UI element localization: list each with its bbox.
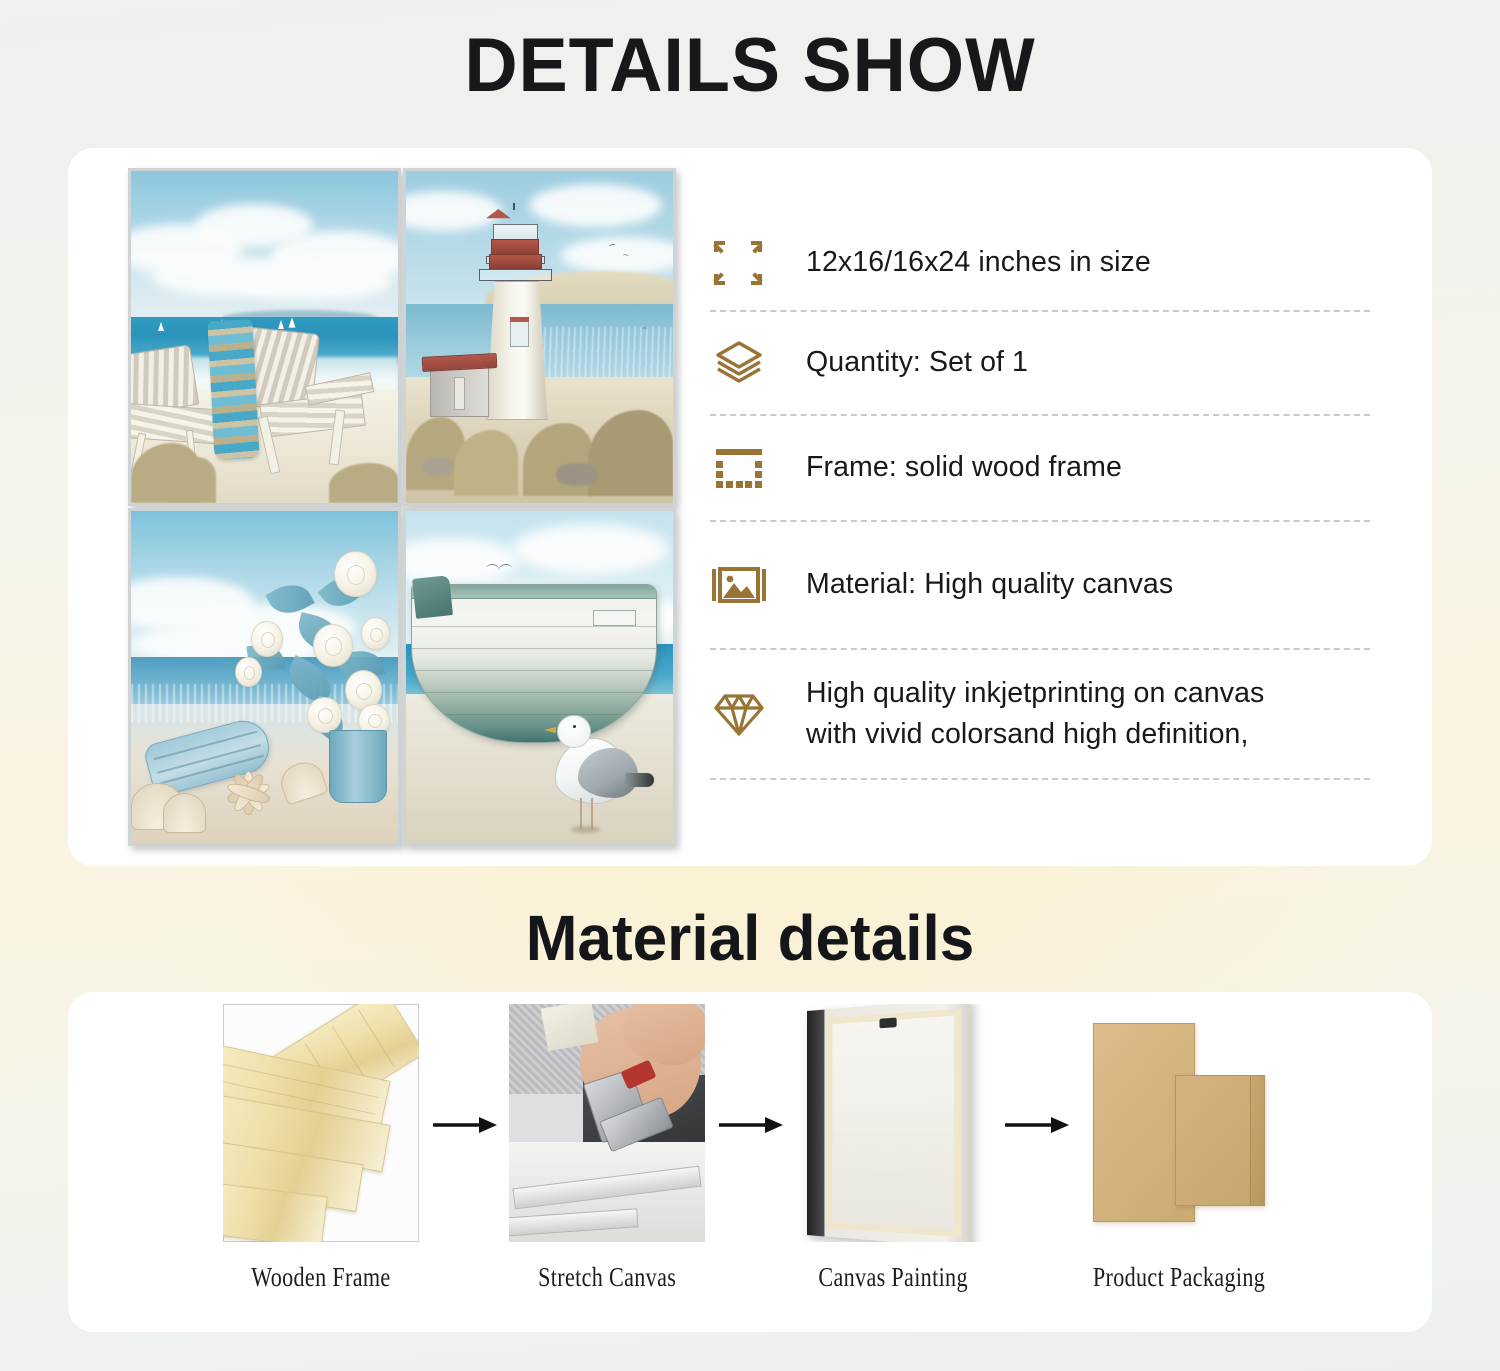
spec-row-printing: High quality inkjetprinting on canvas wi…: [710, 650, 1370, 778]
arrow-icon-1: [421, 1114, 507, 1136]
process-step-canvas-painting[interactable]: Canvas Painting: [793, 1004, 993, 1293]
spec-row-size: 12x16/16x24 inches in size: [710, 216, 1370, 310]
spec-row-frame: Frame: solid wood frame: [710, 416, 1370, 520]
spec-row-material: Material: High quality canvas: [710, 522, 1370, 648]
material-details-header: Material details: [0, 890, 1500, 970]
process-steps: Wooden Frame: [68, 1022, 1432, 1274]
wooden-frame-photo: [223, 1004, 419, 1242]
details-show-header: DETAILS SHOW: [0, 0, 1500, 104]
picture-icon-svg: [710, 557, 768, 613]
arrow-icon-3: [993, 1114, 1079, 1136]
material-details-card: Wooden Frame: [68, 992, 1432, 1332]
material-details-title: Material details: [23, 890, 1478, 970]
page-title: DETAILS SHOW: [23, 0, 1478, 104]
artwork-panel-boat-seagull[interactable]: [403, 508, 676, 846]
stretch-canvas-photo: [509, 1004, 705, 1242]
resize-icon: [710, 235, 768, 291]
step-label-wooden-frame: Wooden Frame: [251, 1262, 390, 1293]
specs-list: 12x16/16x24 inches in size Quantity: Set…: [710, 216, 1370, 780]
layers-icon-svg: [710, 335, 768, 391]
spec-text-size: 12x16/16x24 inches in size: [806, 242, 1151, 283]
spec-text-material: Material: High quality canvas: [806, 564, 1173, 605]
spec-separator: [710, 778, 1370, 780]
spec-text-printing-line2: with vivid colorsand high definition,: [806, 714, 1264, 755]
artwork-panel-beach-chairs[interactable]: [128, 168, 401, 506]
process-step-wooden-frame[interactable]: Wooden Frame: [221, 1004, 421, 1293]
process-step-product-packaging[interactable]: Product Packaging: [1079, 1004, 1279, 1293]
frame-icon: [710, 440, 768, 496]
details-card: 12x16/16x24 inches in size Quantity: Set…: [68, 148, 1432, 866]
artwork-panel-lighthouse[interactable]: [403, 168, 676, 506]
spec-text-printing: High quality inkjetprinting on canvas wi…: [806, 673, 1264, 756]
step-label-product-packaging: Product Packaging: [1093, 1262, 1265, 1293]
arrow-icon-2: [707, 1114, 793, 1136]
canvas-painting-photo: [795, 1004, 991, 1242]
product-packaging-photo: [1081, 1004, 1277, 1242]
spec-text-frame: Frame: solid wood frame: [806, 447, 1122, 488]
frame-icon-svg: [710, 440, 768, 496]
spec-text-printing-line1: High quality inkjetprinting on canvas: [806, 673, 1264, 714]
process-step-stretch-canvas[interactable]: Stretch Canvas: [507, 1004, 707, 1293]
spec-text-quantity: Quantity: Set of 1: [806, 342, 1028, 383]
artwork-gallery: [128, 168, 676, 848]
spec-row-quantity: Quantity: Set of 1: [710, 312, 1370, 414]
artwork-panel-shells-roses[interactable]: [128, 508, 401, 846]
step-label-stretch-canvas: Stretch Canvas: [538, 1262, 676, 1293]
step-label-canvas-painting: Canvas Painting: [818, 1262, 967, 1293]
diamond-icon-svg: [710, 686, 768, 742]
diamond-icon: [710, 686, 768, 742]
picture-icon: [710, 557, 768, 613]
layers-icon: [710, 335, 768, 391]
